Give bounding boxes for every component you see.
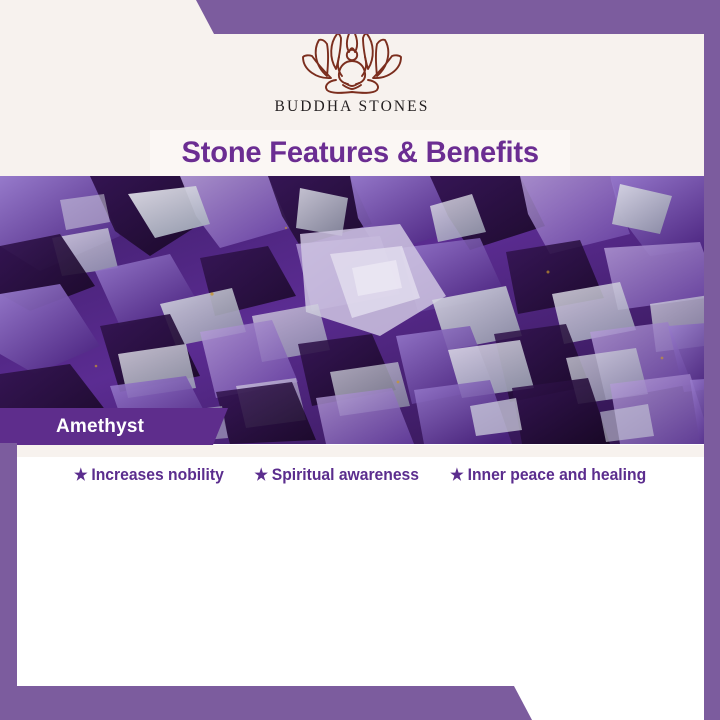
benefits-list: ★ Increases nobility ★ Spiritual awarene…: [17, 466, 704, 485]
benefit-label-3: Inner peace and healing: [467, 466, 646, 485]
frame-accent-bottom: [0, 686, 720, 720]
brand-name: BUDDHA STONES: [275, 98, 430, 116]
star-icon: ★: [450, 468, 464, 484]
brand-logo: BUDDHA STONES: [0, 26, 704, 116]
benefit-item-3: ★ Inner peace and healing: [450, 466, 646, 485]
lotus-meditation-icon: [293, 26, 411, 94]
title-plate: Stone Features & Benefits: [150, 130, 570, 176]
stone-name: Amethyst: [56, 416, 144, 438]
content-top-strip: [17, 445, 704, 457]
benefit-label-2: Spiritual awareness: [271, 466, 418, 485]
product-info-card: BUDDHA STONES Stone Features & Benefits: [0, 0, 720, 720]
benefit-item-1: ★ Increases nobility: [74, 466, 224, 485]
benefit-label-1: Increases nobility: [91, 466, 223, 485]
benefit-item-2: ★ Spiritual awareness: [254, 466, 419, 485]
amethyst-crystal-cluster-photo: [0, 176, 720, 444]
frame-accent-left: [0, 443, 17, 720]
frame-accent-right: [704, 0, 720, 720]
page-title: Stone Features & Benefits: [181, 136, 538, 170]
stone-name-band: Amethyst: [0, 408, 228, 445]
star-icon: ★: [74, 468, 88, 484]
star-icon: ★: [254, 468, 268, 484]
